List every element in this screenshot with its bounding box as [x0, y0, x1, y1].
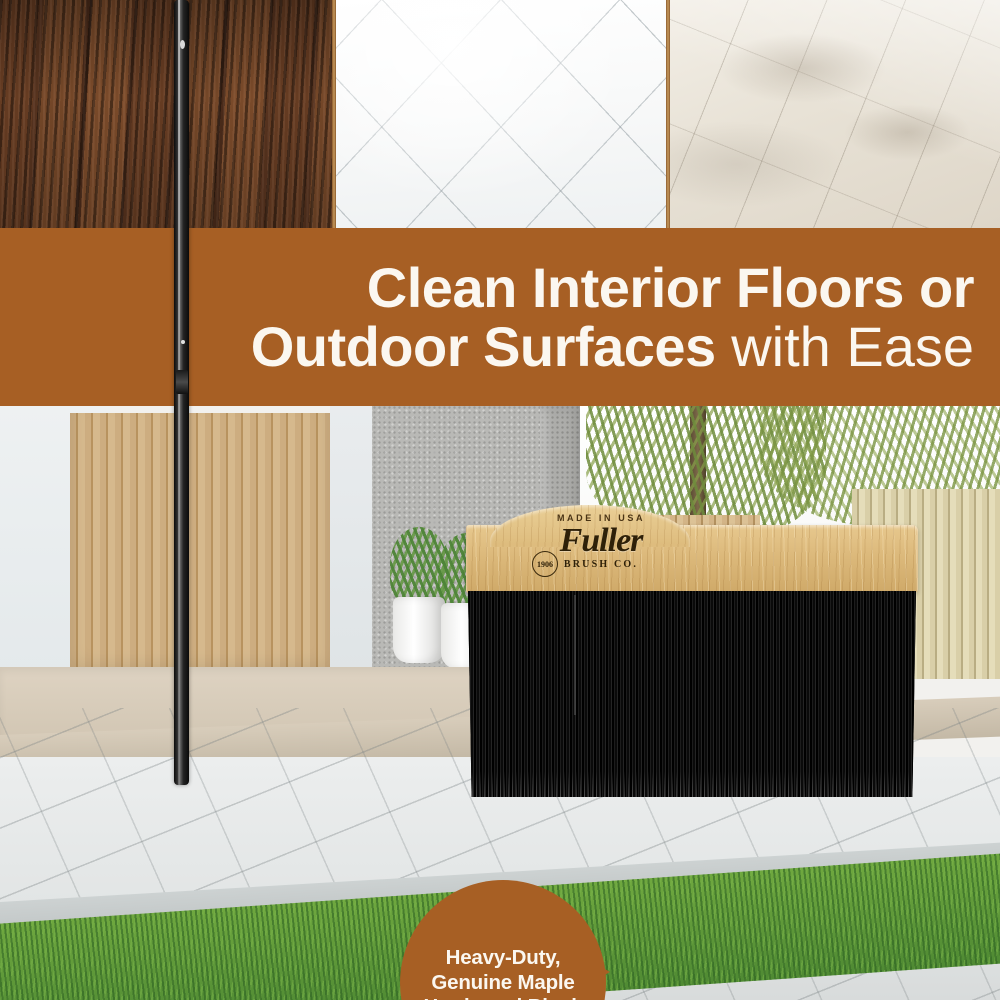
- hang-hole: [180, 40, 185, 49]
- marble-blotches: [670, 0, 1000, 228]
- broom-head-closeup: MADE IN USA Fuller BRUSH CO. 1906: [466, 525, 918, 825]
- headline-container: Clean Interior Floors or Outdoor Surface…: [0, 259, 982, 375]
- black-bristles: [468, 591, 916, 797]
- tile-gloss: [336, 0, 666, 228]
- headline-line-1: Clean Interior Floors or: [0, 259, 974, 316]
- hardwood-floor-panel: [0, 0, 332, 228]
- headline-line-2: Outdoor Surfaces with Ease: [0, 318, 974, 375]
- headline-line-2-light: with Ease: [716, 315, 974, 378]
- marble-floor-panel: [670, 0, 1000, 228]
- callout-circle: Heavy-Duty, Genuine Maple Hardwood Block: [400, 880, 606, 1000]
- white-planter-pot: [393, 597, 445, 663]
- headline-banner: Clean Interior Floors or Outdoor Surface…: [0, 228, 1000, 406]
- feature-callout-badge: Heavy-Duty, Genuine Maple Hardwood Block: [400, 880, 606, 1000]
- ceramic-tile-floor-panel: [336, 0, 666, 228]
- patio-scene: MADE IN USA Fuller BRUSH CO. 1906 Heavy-…: [0, 405, 1000, 1000]
- wood-shading: [0, 0, 332, 228]
- bristle-seam: [574, 595, 576, 715]
- handle-marking: [181, 340, 185, 344]
- marketing-image: Clean Interior Floors or Outdoor Surface…: [0, 0, 1000, 1000]
- callout-text: Heavy-Duty, Genuine Maple Hardwood Block: [400, 946, 606, 1000]
- wood-slat-wall-left: [70, 413, 330, 678]
- floor-type-strip: [0, 0, 1000, 228]
- bristle-tips: [468, 771, 916, 797]
- headline-line-2-bold: Outdoor Surfaces: [251, 315, 716, 378]
- handle-joint: [176, 370, 188, 394]
